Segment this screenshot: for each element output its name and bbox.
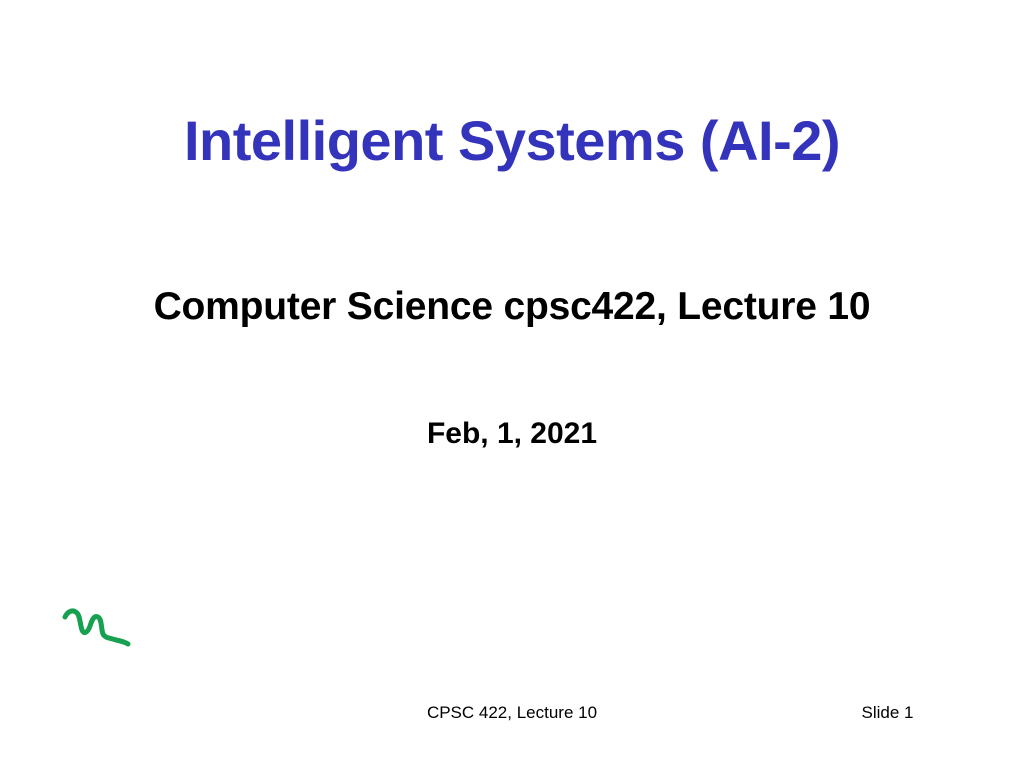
page-title: Intelligent Systems (AI-2) bbox=[0, 110, 1024, 172]
presentation-slide: Intelligent Systems (AI-2) Computer Scie… bbox=[0, 0, 1024, 768]
green-squiggle-icon bbox=[58, 600, 138, 655]
footer-course-label: CPSC 422, Lecture 10 bbox=[300, 703, 724, 723]
footer-slide-number: Slide 1 bbox=[800, 703, 975, 723]
lecture-date: Feb, 1, 2021 bbox=[0, 417, 1024, 450]
course-subtitle: Computer Science cpsc422, Lecture 10 bbox=[0, 286, 1024, 329]
